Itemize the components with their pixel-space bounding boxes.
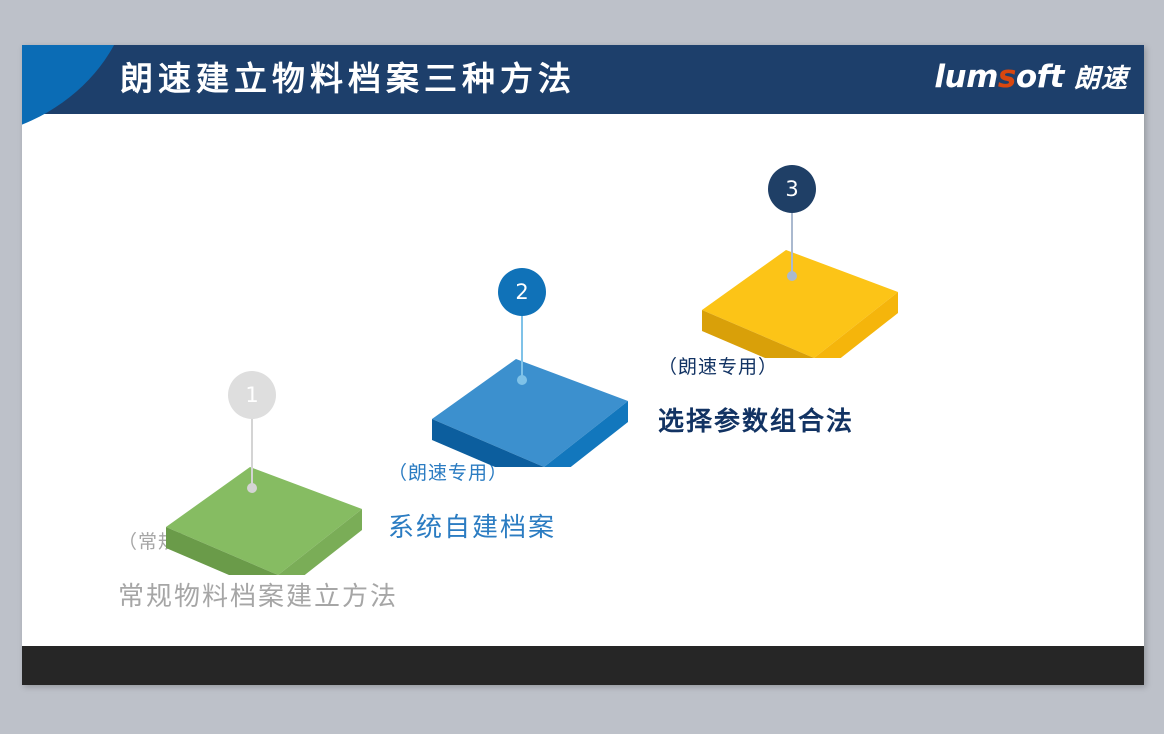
step-badge-3-number: 3 <box>785 177 798 201</box>
slide-canvas: 朗速建立物料档案三种方法 lumsoft 朗速 1 <box>22 45 1144 685</box>
step-connector-line-3 <box>791 213 793 275</box>
step-connector-line-2 <box>521 316 523 379</box>
step-badge-3[interactable]: 3 <box>768 165 816 213</box>
brand-logo: lumsoft 朗速 <box>934 58 1128 95</box>
slide-viewer: 朗速建立物料档案三种方法 lumsoft 朗速 1 <box>0 0 1164 734</box>
logo-latin-text: lumsoft <box>934 59 1064 95</box>
step-connector-dot-3 <box>787 271 797 281</box>
logo-text-part1: lum <box>934 59 998 95</box>
step-badge-2-number: 2 <box>515 280 528 304</box>
diagram-stage: 1 （常规） 常规物料档案建立方法 2 <box>22 114 1144 646</box>
step-caption-large-2: 系统自建档案 <box>388 507 556 544</box>
logo-chinese-text: 朗速 <box>1074 58 1128 95</box>
step-badge-2[interactable]: 2 <box>498 268 546 316</box>
step-caption-large-3: 选择参数组合法 <box>658 401 854 438</box>
logo-text-part2: oft <box>1016 59 1064 95</box>
platform-slab-1[interactable] <box>150 455 370 575</box>
step-connector-dot-2 <box>517 375 527 385</box>
step-caption-large-1: 常规物料档案建立方法 <box>118 576 398 613</box>
slide-footer-band <box>22 646 1144 685</box>
step-connector-dot-1 <box>247 483 257 493</box>
step-badge-1[interactable]: 1 <box>228 371 276 419</box>
page-title: 朗速建立物料档案三种方法 <box>120 59 576 101</box>
platform-slab-3[interactable] <box>686 238 906 358</box>
logo-text-accent: s <box>998 59 1016 95</box>
platform-slab-2[interactable] <box>416 347 636 467</box>
step-connector-line-1 <box>251 419 253 487</box>
step-badge-1-number: 1 <box>245 383 258 407</box>
